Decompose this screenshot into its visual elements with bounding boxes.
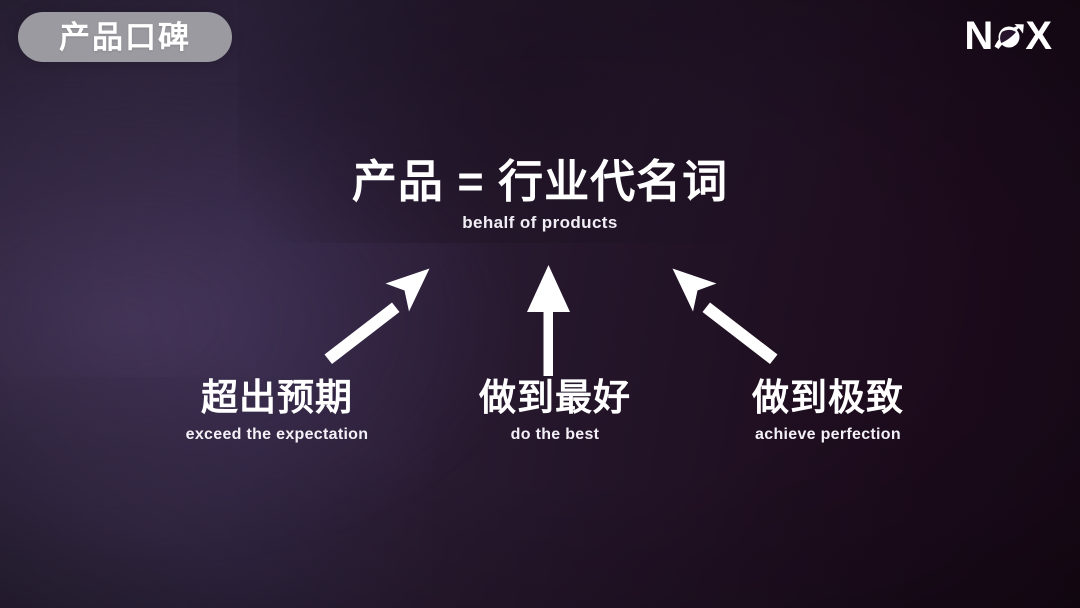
pillar-exceed-expectation: 超出预期 exceed the expectation bbox=[186, 378, 369, 444]
pillar-label-chinese: 做到最好 bbox=[479, 378, 631, 418]
logo-letter-x: X bbox=[1025, 16, 1052, 56]
headline-block: 产品 = 行业代名词 behalf of products bbox=[0, 158, 1080, 233]
pillar-label-chinese: 做到极致 bbox=[752, 378, 904, 418]
headline-english: behalf of products bbox=[0, 213, 1080, 233]
pillar-label-english: achieve perfection bbox=[752, 426, 904, 444]
headline-chinese: 产品 = 行业代名词 bbox=[0, 158, 1080, 205]
pillar-group: 超出预期 exceed the expectation 做到最好 do the … bbox=[0, 378, 1080, 468]
planet-arrow-icon bbox=[992, 19, 1026, 53]
pillar-achieve-perfection: 做到极致 achieve perfection bbox=[752, 378, 904, 444]
slide-canvas: 产品口碑 N X 产品 = 行业代名词 behalf of products bbox=[0, 0, 1080, 608]
pillar-do-the-best: 做到最好 do the best bbox=[479, 378, 631, 444]
section-title-label: 产品口碑 bbox=[59, 22, 191, 53]
brand-logo: N X bbox=[964, 14, 1052, 58]
pillar-label-chinese: 超出预期 bbox=[186, 378, 369, 418]
background-vignette bbox=[0, 0, 1080, 608]
section-title-badge: 产品口碑 bbox=[18, 12, 232, 62]
pillar-label-english: exceed the expectation bbox=[186, 426, 369, 444]
logo-letter-n: N bbox=[964, 16, 993, 56]
pillar-label-english: do the best bbox=[479, 426, 631, 444]
